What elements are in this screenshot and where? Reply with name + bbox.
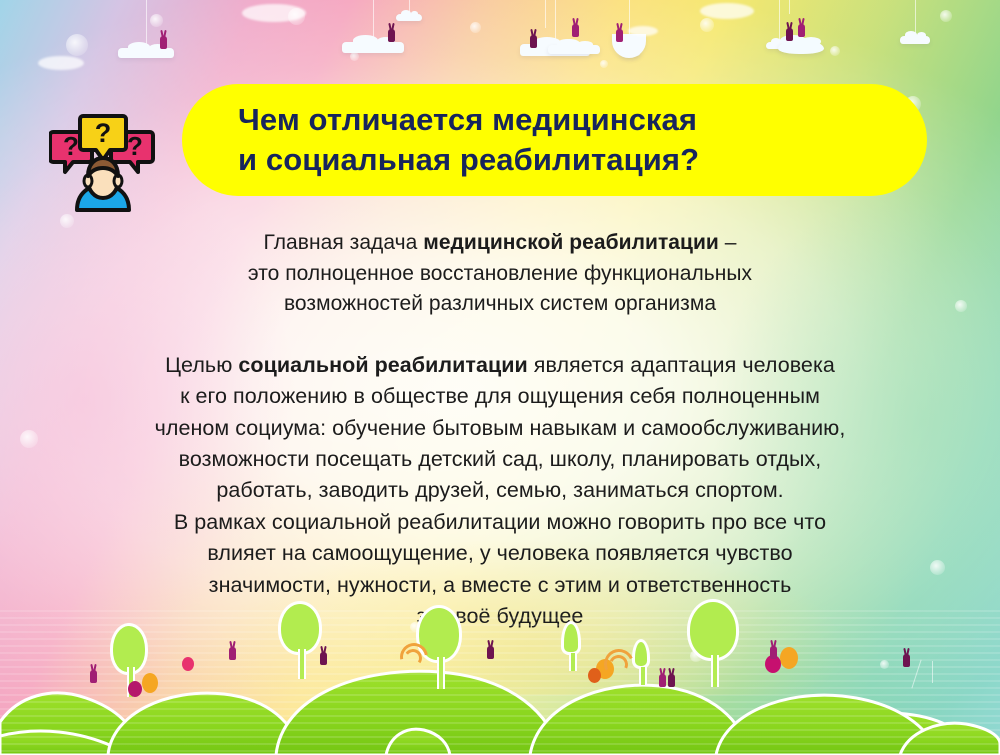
hanging-cloud [778, 40, 824, 54]
title-banner: Чем отличается медицинская и социальная … [182, 84, 927, 196]
cloud-string [146, 0, 147, 48]
slide-root: ? ? ? Чем отличается медицинская [0, 0, 1000, 755]
bunny-figure [668, 674, 675, 687]
cloud-string [789, 0, 790, 14]
background-puff-cloud [700, 3, 754, 19]
tree-crown [278, 601, 322, 655]
flower-icon [128, 681, 142, 697]
hanging-cloud [528, 28, 562, 36]
paragraph-medical-lead: Главная задача [263, 231, 423, 254]
tree-trunk [711, 655, 719, 687]
bunny-figure [388, 29, 395, 42]
paragraph-social-tail: является адаптация человека к его положе… [155, 353, 846, 628]
tree-icon [561, 621, 581, 671]
hanging-cloud [778, 14, 800, 22]
flower-icon [142, 673, 158, 693]
paragraph-social-lead: Целью [165, 353, 238, 377]
bunny-figure [786, 28, 793, 41]
cloud-string [915, 0, 916, 36]
tree-icon [278, 601, 322, 679]
tree-trunk [639, 667, 647, 685]
slide-title: Чем отличается медицинская и социальная … [238, 100, 699, 181]
bunny-figure [903, 654, 910, 667]
bunny-figure [616, 29, 623, 42]
flower-icon [780, 647, 798, 669]
bunny-figure [659, 674, 666, 687]
hanging-cloud [118, 48, 174, 60]
flower-icon [588, 668, 601, 683]
bunny-figure [798, 24, 805, 37]
svg-text:?: ? [95, 118, 112, 148]
hanging-cloud-moon [612, 34, 646, 58]
cloud-shape [900, 36, 930, 44]
svg-text:?: ? [127, 131, 143, 161]
cloud-shape [396, 14, 422, 21]
question-bubbles-person-icon: ? ? ? [49, 108, 157, 212]
bunny-figure [160, 36, 167, 49]
bunny-figure [229, 647, 236, 660]
tree-trunk [437, 657, 445, 689]
cloud-shape [342, 42, 404, 53]
background-puff-cloud [242, 4, 306, 22]
hill-main [108, 693, 302, 755]
paragraph-social: Целью социальной реабилитации является а… [60, 350, 940, 632]
bunny-figure [572, 24, 579, 37]
hanging-cloud [525, 42, 577, 54]
background-puff-cloud [38, 56, 84, 70]
bunny-figure [770, 646, 777, 659]
background-puff-cloud [628, 26, 658, 36]
body-text-block: Главная задача медицинской реабилитации … [60, 228, 940, 632]
svg-text:?: ? [63, 131, 79, 161]
hanging-cloud [396, 14, 422, 22]
hill-main [530, 685, 750, 755]
hanging-cloud [342, 42, 404, 56]
cloud-shape [778, 40, 824, 54]
bunny-figure [90, 670, 97, 683]
cloud-string [545, 0, 546, 28]
hanging-cloud [900, 36, 930, 45]
tree-crown [561, 621, 581, 655]
flower-icon [182, 657, 194, 671]
bunny-figure [320, 652, 327, 665]
tree-trunk [569, 653, 577, 671]
tree-crown [687, 599, 739, 661]
paragraph-medical-bold: медицинской реабилитации [423, 231, 719, 254]
cloud-shape [118, 48, 174, 58]
tree-icon [632, 639, 650, 685]
bunny-figure [487, 646, 494, 659]
tree-icon [687, 599, 739, 687]
tree-trunk [298, 649, 306, 679]
kite-string [932, 661, 933, 683]
person-avatar-icon [77, 158, 129, 210]
paragraph-social-bold: социальной реабилитации [238, 353, 527, 377]
tree-crown [632, 639, 650, 669]
butterfly-icon [398, 671, 414, 683]
paragraph-medical: Главная задача медицинской реабилитации … [60, 228, 940, 320]
